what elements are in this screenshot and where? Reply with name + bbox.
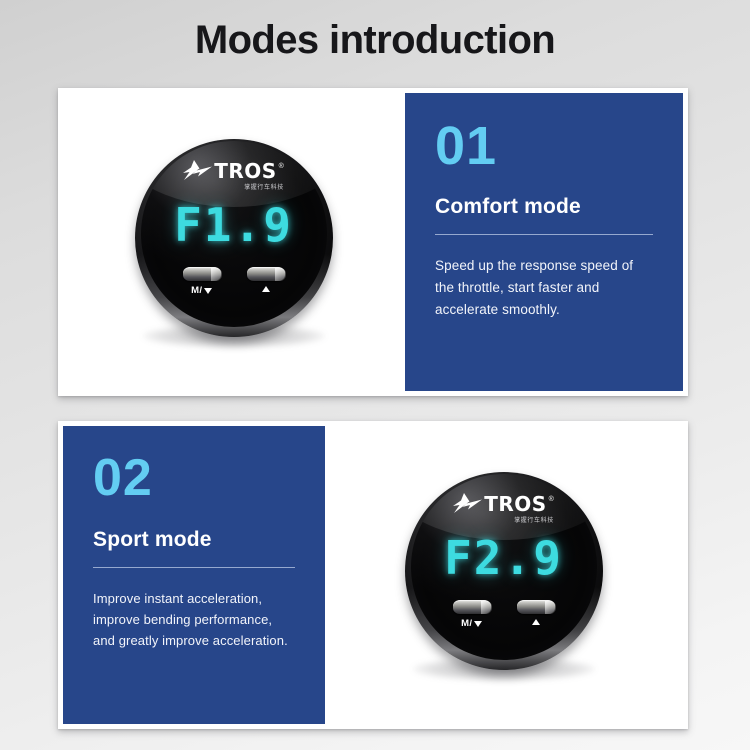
brand-name: TROS	[484, 495, 546, 514]
logo-word-row: TROS ®	[484, 495, 554, 514]
logo-word-row: TROS ®	[214, 162, 284, 181]
button-cap[interactable]	[247, 267, 285, 281]
throttle-controller-device-02[interactable]: TROS ® 掌握行车科技 F2.9 M/	[397, 468, 612, 683]
mode-down-button[interactable]: M/	[183, 267, 221, 296]
brand-subtitle: 掌握行车科技	[244, 182, 284, 191]
device-body: TROS ® 掌握行车科技 F2.9 M/	[405, 472, 603, 670]
divider	[435, 234, 653, 235]
triangle-up-icon	[262, 286, 270, 292]
device-brand-logo: TROS ® 掌握行车科技	[411, 495, 597, 524]
device-panel-02: TROS ® 掌握行车科技 F2.9 M/	[325, 426, 683, 724]
mode-title: Comfort mode	[435, 195, 653, 218]
logo-text-block: TROS ® 掌握行车科技	[214, 162, 284, 191]
triangle-down-icon	[204, 288, 212, 294]
lcd-readout: F1.9	[141, 198, 327, 252]
star-icon	[183, 160, 213, 188]
mode-number: 02	[93, 452, 295, 504]
registered-trademark-icon: ®	[279, 163, 284, 170]
throttle-controller-device-01[interactable]: TROS ® 掌握行车科技 F1.9 M/	[127, 135, 342, 350]
mode-number: 01	[435, 119, 653, 173]
registered-trademark-icon: ®	[549, 496, 554, 503]
triangle-up-icon	[532, 619, 540, 625]
star-icon	[453, 493, 483, 521]
logo-text-block: TROS ® 掌握行车科技	[484, 495, 554, 524]
device-brand-logo: TROS ® 掌握行车科技	[141, 162, 327, 191]
device-face: TROS ® 掌握行车科技 F2.9 M/	[411, 474, 597, 660]
triangle-down-icon	[474, 621, 482, 627]
button-cap[interactable]	[453, 600, 491, 614]
mode-down-button-label: M/	[461, 619, 482, 629]
mode-down-button-text: M/	[191, 286, 202, 296]
mode-info-panel-01: 01 Comfort mode Speed up the response sp…	[405, 93, 683, 391]
mode-title: Sport mode	[93, 528, 295, 551]
device-face: TROS ® 掌握行车科技 F1.9 M/	[141, 141, 327, 327]
brand-name: TROS	[214, 162, 276, 181]
button-cap[interactable]	[183, 267, 221, 281]
mode-down-button-text: M/	[461, 619, 472, 629]
mode-down-button[interactable]: M/	[453, 600, 491, 629]
device-button-row: M/	[141, 267, 327, 296]
mode-down-button-label: M/	[191, 286, 212, 296]
brand-subtitle: 掌握行车科技	[514, 515, 554, 524]
device-body: TROS ® 掌握行车科技 F1.9 M/	[135, 139, 333, 337]
mode-info-panel-02: 02 Sport mode Improve instant accelerati…	[63, 426, 325, 724]
button-cap[interactable]	[517, 600, 555, 614]
mode-description: Speed up the response speed of the throt…	[435, 255, 653, 321]
page-title: Modes introduction	[0, 18, 750, 63]
lcd-readout: F2.9	[411, 531, 597, 585]
mode-up-button-label	[532, 619, 540, 625]
mode-up-button[interactable]	[247, 267, 285, 296]
mode-card-01: TROS ® 掌握行车科技 F1.9 M/	[58, 88, 688, 396]
device-panel-01: TROS ® 掌握行车科技 F1.9 M/	[63, 93, 405, 391]
mode-up-button[interactable]	[517, 600, 555, 629]
divider	[93, 567, 295, 568]
mode-card-02: 02 Sport mode Improve instant accelerati…	[58, 421, 688, 729]
mode-up-button-label	[262, 286, 270, 292]
device-button-row: M/	[411, 600, 597, 629]
mode-description: Improve instant acceleration, improve be…	[93, 588, 295, 651]
